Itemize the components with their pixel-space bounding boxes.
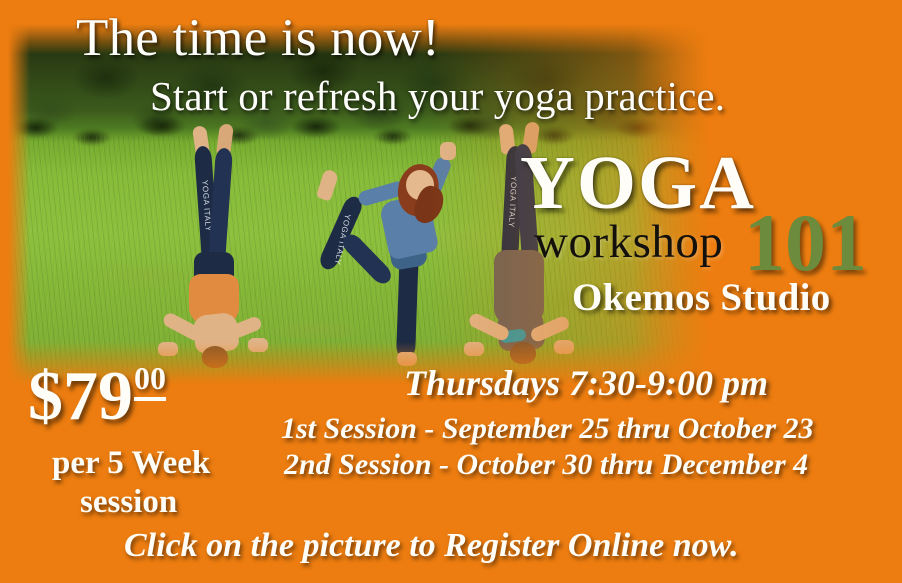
- yoga-workshop-flyer[interactable]: YOGA ITALY YOGA ITALY: [0, 0, 902, 583]
- register-click-target[interactable]: [0, 0, 902, 583]
